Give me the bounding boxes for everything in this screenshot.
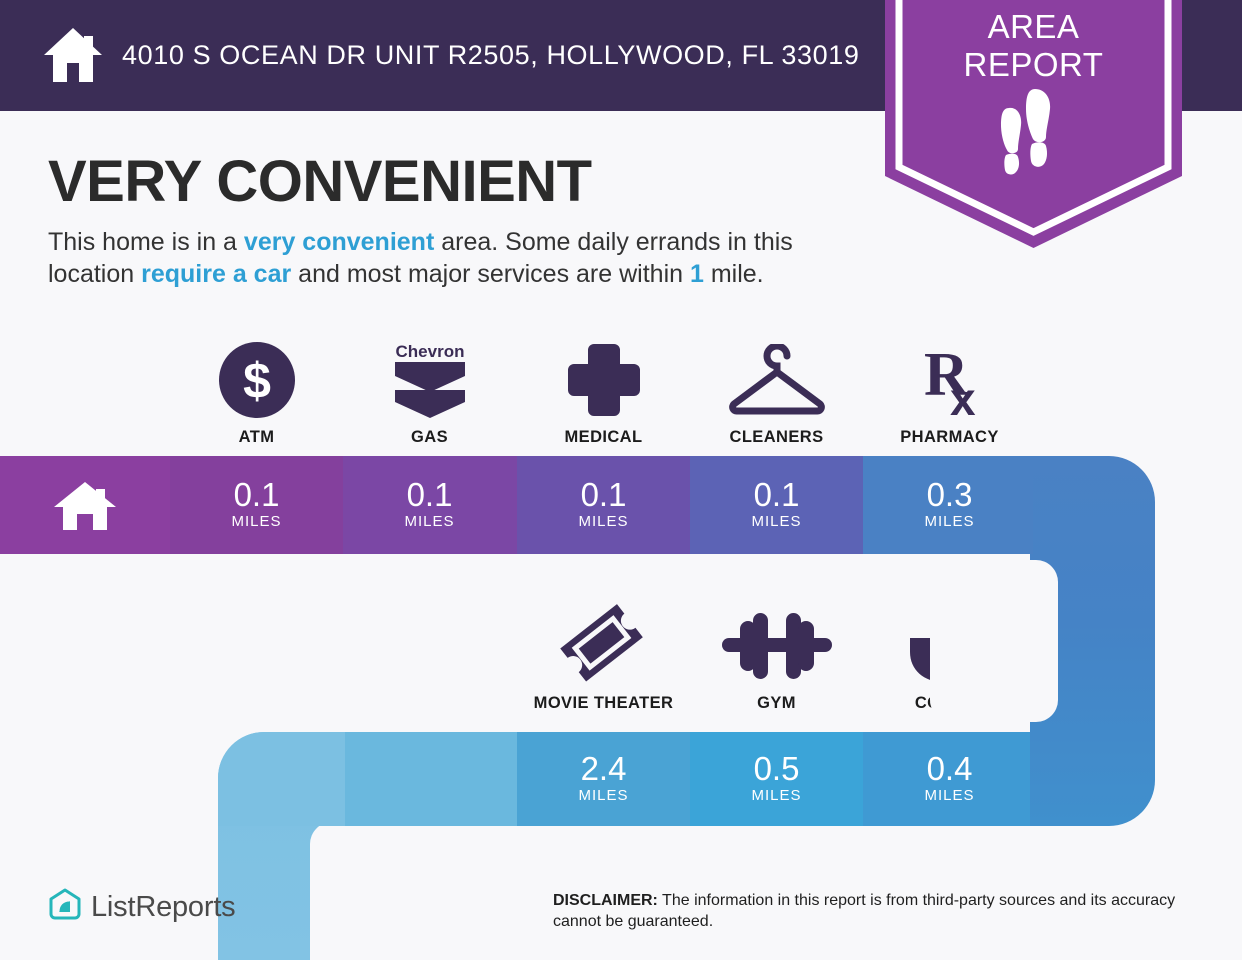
category-label: MEDICAL — [517, 428, 690, 447]
row2-bar-gym — [690, 732, 863, 826]
category-label: PHARMACY — [863, 428, 1036, 447]
row1-bar-atm — [170, 456, 343, 554]
badge-line-2: REPORT — [885, 46, 1182, 84]
desc-part-3: and most major services are within — [291, 260, 690, 288]
desc-highlight-2: require a car — [141, 260, 291, 288]
ribbon-right-inner-notch — [930, 560, 1058, 722]
description-text: This home is in a very convenient area. … — [48, 226, 878, 290]
category-gas: Chevron GAS — [343, 336, 516, 447]
area-report-infographic: 4010 S OCEAN DR UNIT R2505, HOLLYWOOD, F… — [0, 0, 1242, 960]
medical-cross-icon — [517, 336, 690, 424]
badge-line-1: AREA — [885, 8, 1182, 46]
property-address: 4010 S OCEAN DR UNIT R2505, HOLLYWOOD, F… — [122, 40, 859, 71]
category-pharmacy: R x PHARMACY — [863, 336, 1036, 447]
area-report-badge: AREA REPORT — [885, 0, 1182, 248]
category-label: CLEANERS — [690, 428, 863, 447]
desc-part-1: This home is in a — [48, 228, 244, 256]
home-icon — [42, 26, 104, 84]
row1-bar-gas — [343, 456, 517, 554]
desc-highlight-1: very convenient — [244, 228, 434, 256]
row2-bar-coffee — [863, 732, 1030, 826]
category-cleaners: CLEANERS — [690, 336, 863, 447]
rx-icon: R x — [863, 336, 1036, 424]
row1-home-cell — [0, 456, 170, 554]
category-label: GAS — [343, 428, 516, 447]
row2-bar-lead — [218, 732, 345, 826]
hanger-icon — [690, 336, 863, 424]
chevron-gas-icon: Chevron — [343, 336, 516, 424]
distance-ribbon: 0.1 MILES 0.1 MILES 0.1 MILES 0.1 MILES … — [0, 450, 1242, 960]
category-atm: $ ATM — [170, 336, 343, 447]
ribbon-left-inner-notch — [310, 822, 460, 960]
row2-bar-movie-theater — [517, 732, 690, 826]
category-label: ATM — [170, 428, 343, 447]
home-icon — [52, 480, 118, 532]
row1-bar-pharmacy — [863, 456, 1033, 554]
page-title: VERY CONVENIENT — [48, 148, 592, 215]
row2-bar-spacer — [345, 732, 517, 826]
badge-title: AREA REPORT — [885, 8, 1182, 84]
listreports-house-icon — [48, 888, 82, 927]
row1-bar-cleaners — [690, 456, 863, 554]
listreports-wordmark: ListReports — [91, 891, 235, 924]
desc-highlight-3: 1 — [690, 260, 704, 288]
category-medical: MEDICAL — [517, 336, 690, 447]
svg-text:$: $ — [243, 353, 271, 409]
desc-part-4: mile. — [704, 260, 764, 288]
row1-bar-medical — [517, 456, 690, 554]
disclaimer: DISCLAIMER: The information in this repo… — [553, 890, 1193, 932]
svg-text:x: x — [950, 373, 976, 419]
listreports-logo: ListReports — [48, 888, 235, 927]
svg-text:Chevron: Chevron — [395, 342, 464, 361]
dollar-circle-icon: $ — [170, 336, 343, 424]
disclaimer-label: DISCLAIMER: — [553, 892, 658, 909]
